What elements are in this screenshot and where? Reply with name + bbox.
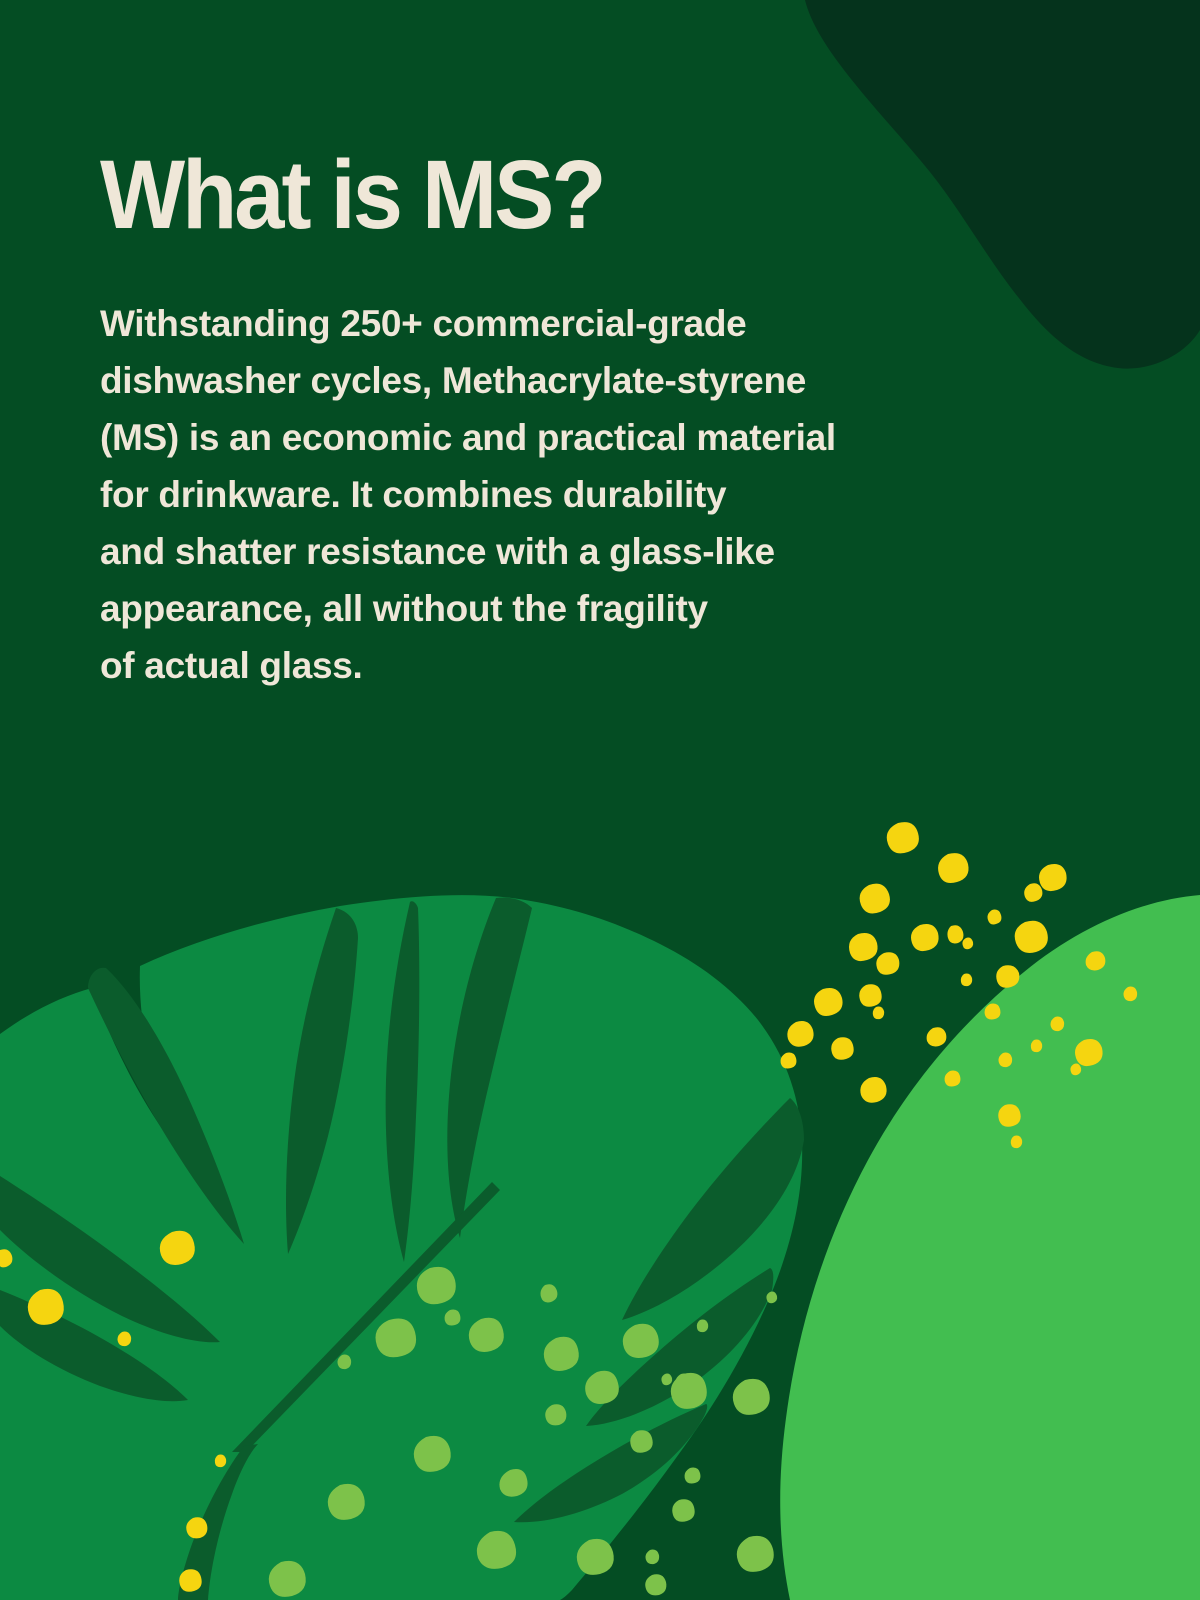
page-title: What is MS? bbox=[100, 146, 1030, 243]
text-content: What is MS? Withstanding 250+ commercial… bbox=[0, 0, 1200, 694]
poster-canvas: What is MS? Withstanding 250+ commercial… bbox=[0, 0, 1200, 1600]
leaf-yellow-dot-d bbox=[215, 1455, 226, 1468]
leaf-yellow-dot-f bbox=[179, 1569, 201, 1591]
body-paragraph: Withstanding 250+ commercial-grade dishw… bbox=[100, 295, 1090, 694]
